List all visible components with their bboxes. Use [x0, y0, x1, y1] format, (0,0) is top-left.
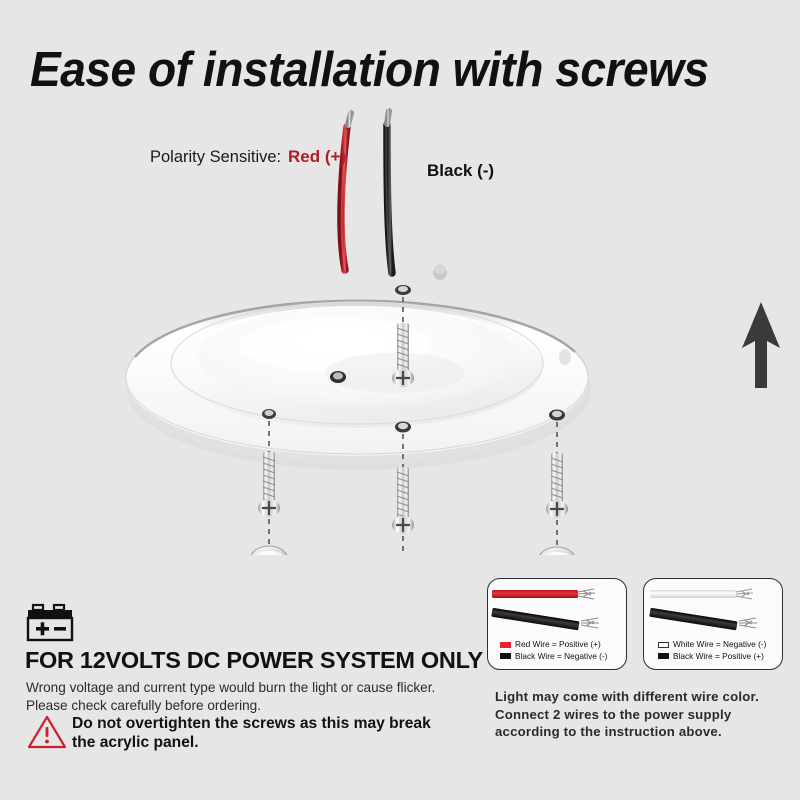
wire-panel-red-black: Red Wire = Positive (+) Black Wire = Neg… — [487, 578, 627, 670]
legend-label: Black Wire = Negative (-) — [515, 651, 607, 663]
warning-triangle-icon — [27, 714, 67, 750]
light-fixture-body — [126, 300, 591, 470]
legend-item: Black Wire = Positive (+) — [658, 651, 766, 663]
legend-label: Black Wire = Positive (+) — [673, 651, 764, 663]
page-title: Ease of installation with screws — [30, 42, 709, 98]
wire-panel-white-black: White Wire = Negative (-) Black Wire = P… — [643, 578, 783, 670]
legend-item: Black Wire = Negative (-) — [500, 651, 607, 663]
wire-panel-red-black-illustration — [488, 579, 627, 639]
infographic-canvas: Ease of installation with screws — [0, 0, 800, 800]
warning-text: Do not overtighten the screws as this ma… — [72, 714, 462, 752]
legend-item: White Wire = Negative (-) — [658, 639, 766, 651]
polarity-black-label: Black (-) — [427, 161, 494, 181]
up-arrow-icon — [740, 300, 782, 390]
dc-power-body: Wrong voltage and current type would bur… — [26, 679, 456, 714]
caption-line-1: Light may come with different wire color… — [495, 688, 795, 706]
polarity-sensitive-label: Polarity Sensitive: — [150, 148, 281, 167]
wire-panel-white-black-legend: White Wire = Negative (-) Black Wire = P… — [658, 639, 766, 662]
dc-power-body-line-1: Wrong voltage and current type would bur… — [26, 679, 456, 697]
battery-icon — [26, 603, 76, 643]
black-swatch-icon — [500, 653, 511, 659]
warning-line-2: the acrylic panel. — [72, 733, 462, 752]
screw-assembly-4 — [538, 422, 576, 555]
caption-line-3: according to the instruction above. — [495, 723, 795, 741]
legend-item: Red Wire = Positive (+) — [500, 639, 607, 651]
wire-panel-white-black-illustration — [644, 579, 783, 639]
warning-line-1: Do not overtighten the screws as this ma… — [72, 714, 462, 733]
wire-panel-red-black-legend: Red Wire = Positive (+) Black Wire = Neg… — [500, 639, 607, 662]
dc-power-body-line-2: Please check carefully before ordering. — [26, 697, 456, 715]
white-swatch-icon — [658, 642, 669, 648]
wire-panel-caption: Light may come with different wire color… — [495, 688, 795, 741]
polarity-red-label: Red (+) — [288, 147, 346, 167]
red-swatch-icon — [500, 642, 511, 648]
caption-line-2: Connect 2 wires to the power supply — [495, 706, 795, 724]
fixture-wires — [341, 111, 392, 273]
product-illustration — [95, 105, 655, 555]
dc-power-heading: FOR 12VOLTS DC POWER SYSTEM ONLY — [25, 647, 483, 674]
legend-label: White Wire = Negative (-) — [673, 639, 766, 651]
legend-label: Red Wire = Positive (+) — [515, 639, 601, 651]
black-swatch-icon — [658, 653, 669, 659]
